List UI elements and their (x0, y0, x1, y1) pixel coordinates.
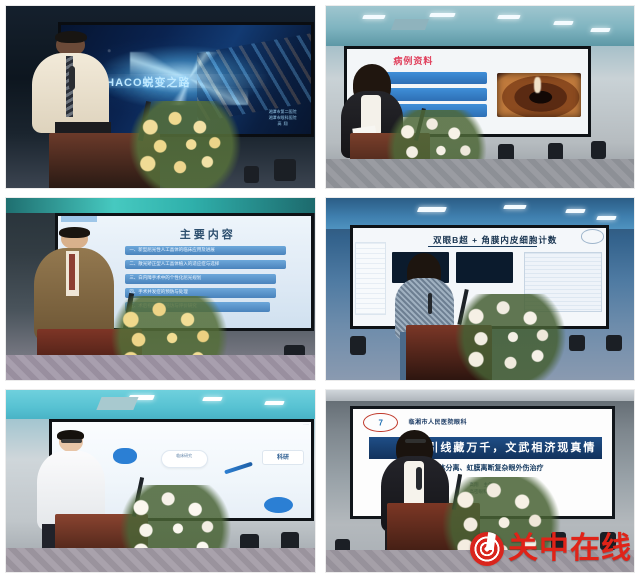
handheld-microphone-icon (69, 66, 75, 89)
ceiling-light-i (596, 216, 616, 220)
ceiling-vent (391, 19, 429, 30)
ceiling-vent-5 (96, 397, 138, 410)
eyeglasses-icon-6 (405, 439, 425, 443)
conference-scene-2: 病例资料 (326, 6, 635, 188)
ceiling-light-g (504, 205, 527, 209)
watermark-text: 关中在线 (508, 534, 632, 564)
flower-arrangement-4 (449, 294, 572, 380)
ceiling-light-e (590, 28, 610, 32)
ceiling-strip-6 (326, 390, 635, 401)
stage-light-2 (244, 166, 259, 182)
stage-light-7 (350, 336, 365, 354)
eyeglasses-icon (61, 439, 81, 443)
stage-light-5 (591, 141, 606, 159)
floor-2 (326, 159, 635, 188)
flower-arrangement-1 (123, 101, 246, 188)
stage-light-8 (569, 335, 584, 351)
collage-panel-4[interactable]: 双眼B超 + 角膜内皮细胞计数 (326, 198, 635, 380)
collage-panel-1[interactable]: 我的PHACO蜕变之路 湘潭市第二医院 湘潭市眼科医院 高 翔 (6, 6, 315, 188)
conference-scene-3: 主要内容 一、新型屈光性人工晶体的临床应用及进展 二、散光矫正型人工晶体植入的适… (6, 198, 315, 380)
ceiling-light-a (362, 15, 385, 19)
ceiling-2 (326, 6, 635, 46)
ceiling-light-h (565, 209, 585, 213)
conference-scene-4: 双眼B超 + 角膜内皮细胞计数 (326, 198, 635, 380)
presenter-1-hair (55, 31, 87, 43)
ceiling-light-f (417, 207, 447, 212)
ceiling-4 (326, 198, 635, 229)
handheld-microphone-icon-6 (416, 467, 421, 490)
conference-scene-5: 临床研究 科研 ····· (6, 390, 315, 572)
collage-panel-6[interactable]: 临湘市人民医院眼科 孕针引线藏万千，文武相济现真情 —— 晶状体分离、虹膜离断复… (326, 390, 635, 572)
collage-panel-5[interactable]: 临床研究 科研 ····· (6, 390, 315, 572)
handheld-microphone-icon-4 (428, 293, 432, 313)
conference-scene-6: 临湘市人民医院眼科 孕针引线藏万千，文武相济现真情 —— 晶状体分离、虹膜离断复… (326, 390, 635, 572)
stage-light-1 (274, 159, 296, 181)
collage-panel-3[interactable]: 主要内容 一、新型屈光性人工晶体的临床应用及进展 二、散光矫正型人工晶体植入的适… (6, 198, 315, 380)
floor-5 (6, 548, 315, 572)
ceiling-strip-3 (6, 198, 315, 213)
conference-scene-1: 我的PHACO蜕变之路 湘潭市第二医院 湘潭市眼科医院 高 翔 (6, 6, 315, 188)
photo-collage: 我的PHACO蜕变之路 湘潭市第二医院 湘潭市眼科医院 高 翔 (0, 0, 640, 576)
site-watermark: 关中在线 (470, 532, 632, 566)
collage-panel-2[interactable]: 病例资料 (326, 6, 635, 188)
floor-3 (6, 355, 315, 380)
ceiling-light-d (553, 21, 573, 25)
presenter-3-tie (69, 254, 75, 290)
ceiling-light-c (498, 15, 521, 19)
ceiling-light-k (203, 397, 223, 401)
ceiling-light-l (264, 401, 284, 405)
stage-light-9 (606, 335, 621, 351)
watermark-spiral-logo-icon (470, 532, 504, 566)
presenter-3-hair (59, 227, 89, 237)
ceiling-light-b (430, 13, 456, 17)
